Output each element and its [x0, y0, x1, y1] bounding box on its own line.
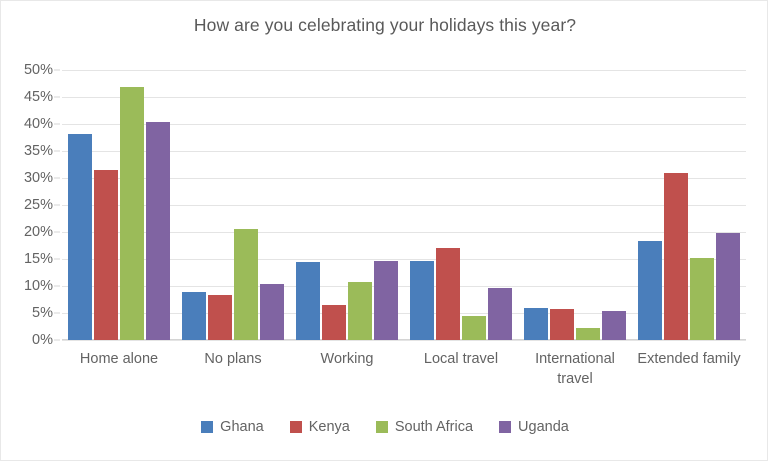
y-axis-tick-label: 10%: [1, 278, 53, 294]
bar: [462, 316, 486, 340]
x-axis-tick-label: Working: [290, 349, 404, 369]
y-axis-tick-mark: [54, 151, 60, 152]
legend-swatch-icon: [201, 421, 213, 433]
bar: [436, 248, 460, 340]
bar: [296, 262, 320, 340]
legend-item[interactable]: Ghana: [201, 419, 264, 435]
x-axis-tick-label: Extended family: [632, 349, 746, 369]
bar: [146, 122, 170, 340]
bar: [234, 229, 258, 340]
bar: [348, 282, 372, 340]
bar: [182, 292, 206, 340]
bar: [208, 295, 232, 340]
y-axis-tick-mark: [54, 124, 60, 125]
y-axis-tick-mark: [54, 340, 60, 341]
y-axis-tick-mark: [54, 313, 60, 314]
bar: [488, 288, 512, 340]
legend-label: Uganda: [518, 419, 569, 435]
y-axis-tick-label: 15%: [1, 251, 53, 267]
legend-swatch-icon: [376, 421, 388, 433]
chart-legend: GhanaKenyaSouth AfricaUganda: [1, 419, 768, 435]
legend-item[interactable]: Uganda: [499, 419, 569, 435]
legend-swatch-icon: [499, 421, 511, 433]
bar: [664, 173, 688, 340]
bar: [260, 284, 284, 340]
bar-group: [632, 70, 746, 340]
y-axis-tick-label: 45%: [1, 89, 53, 105]
bar: [690, 258, 714, 340]
y-axis-tick-label: 25%: [1, 197, 53, 213]
bar-chart: How are you celebrating your holidays th…: [0, 0, 768, 461]
y-axis-tick-mark: [54, 205, 60, 206]
bar: [576, 328, 600, 340]
legend-item[interactable]: Kenya: [290, 419, 350, 435]
y-axis: 0%5%10%15%20%25%30%35%40%45%50%: [1, 70, 53, 340]
y-axis-tick-label: 5%: [1, 305, 53, 321]
legend-label: Ghana: [220, 419, 264, 435]
bar: [524, 308, 548, 340]
bar: [410, 261, 434, 340]
legend-item[interactable]: South Africa: [376, 419, 473, 435]
y-axis-tick-label: 35%: [1, 143, 53, 159]
x-axis-tick-label: International travel: [518, 349, 632, 389]
gridline: [62, 340, 746, 341]
y-axis-tick-mark: [54, 178, 60, 179]
bar: [322, 305, 346, 340]
x-axis: Home aloneNo plansWorkingLocal travelInt…: [62, 349, 746, 397]
x-axis-tick-label: No plans: [176, 349, 290, 369]
y-axis-tick-label: 50%: [1, 62, 53, 78]
bar: [716, 233, 740, 340]
x-axis-tick-label: Local travel: [404, 349, 518, 369]
bar: [94, 170, 118, 340]
bar-group: [290, 70, 404, 340]
bar: [374, 261, 398, 340]
bar-group: [404, 70, 518, 340]
legend-label: South Africa: [395, 419, 473, 435]
bar-group: [62, 70, 176, 340]
bar-group: [518, 70, 632, 340]
x-axis-tick-label: Home alone: [62, 349, 176, 369]
bar: [638, 241, 662, 340]
legend-swatch-icon: [290, 421, 302, 433]
chart-title: How are you celebrating your holidays th…: [1, 15, 768, 36]
bar: [68, 134, 92, 340]
bar-group: [176, 70, 290, 340]
y-axis-tick-mark: [54, 97, 60, 98]
y-axis-tick-label: 40%: [1, 116, 53, 132]
y-axis-tick-mark: [54, 232, 60, 233]
y-axis-tick-mark: [54, 259, 60, 260]
legend-label: Kenya: [309, 419, 350, 435]
y-axis-tick-mark: [54, 70, 60, 71]
bar: [602, 311, 626, 340]
y-axis-tick-mark: [54, 286, 60, 287]
bar: [120, 87, 144, 340]
y-axis-tick-label: 20%: [1, 224, 53, 240]
y-axis-tick-label: 0%: [1, 332, 53, 348]
plot-area: [62, 70, 746, 340]
y-axis-tick-label: 30%: [1, 170, 53, 186]
bar: [550, 309, 574, 340]
